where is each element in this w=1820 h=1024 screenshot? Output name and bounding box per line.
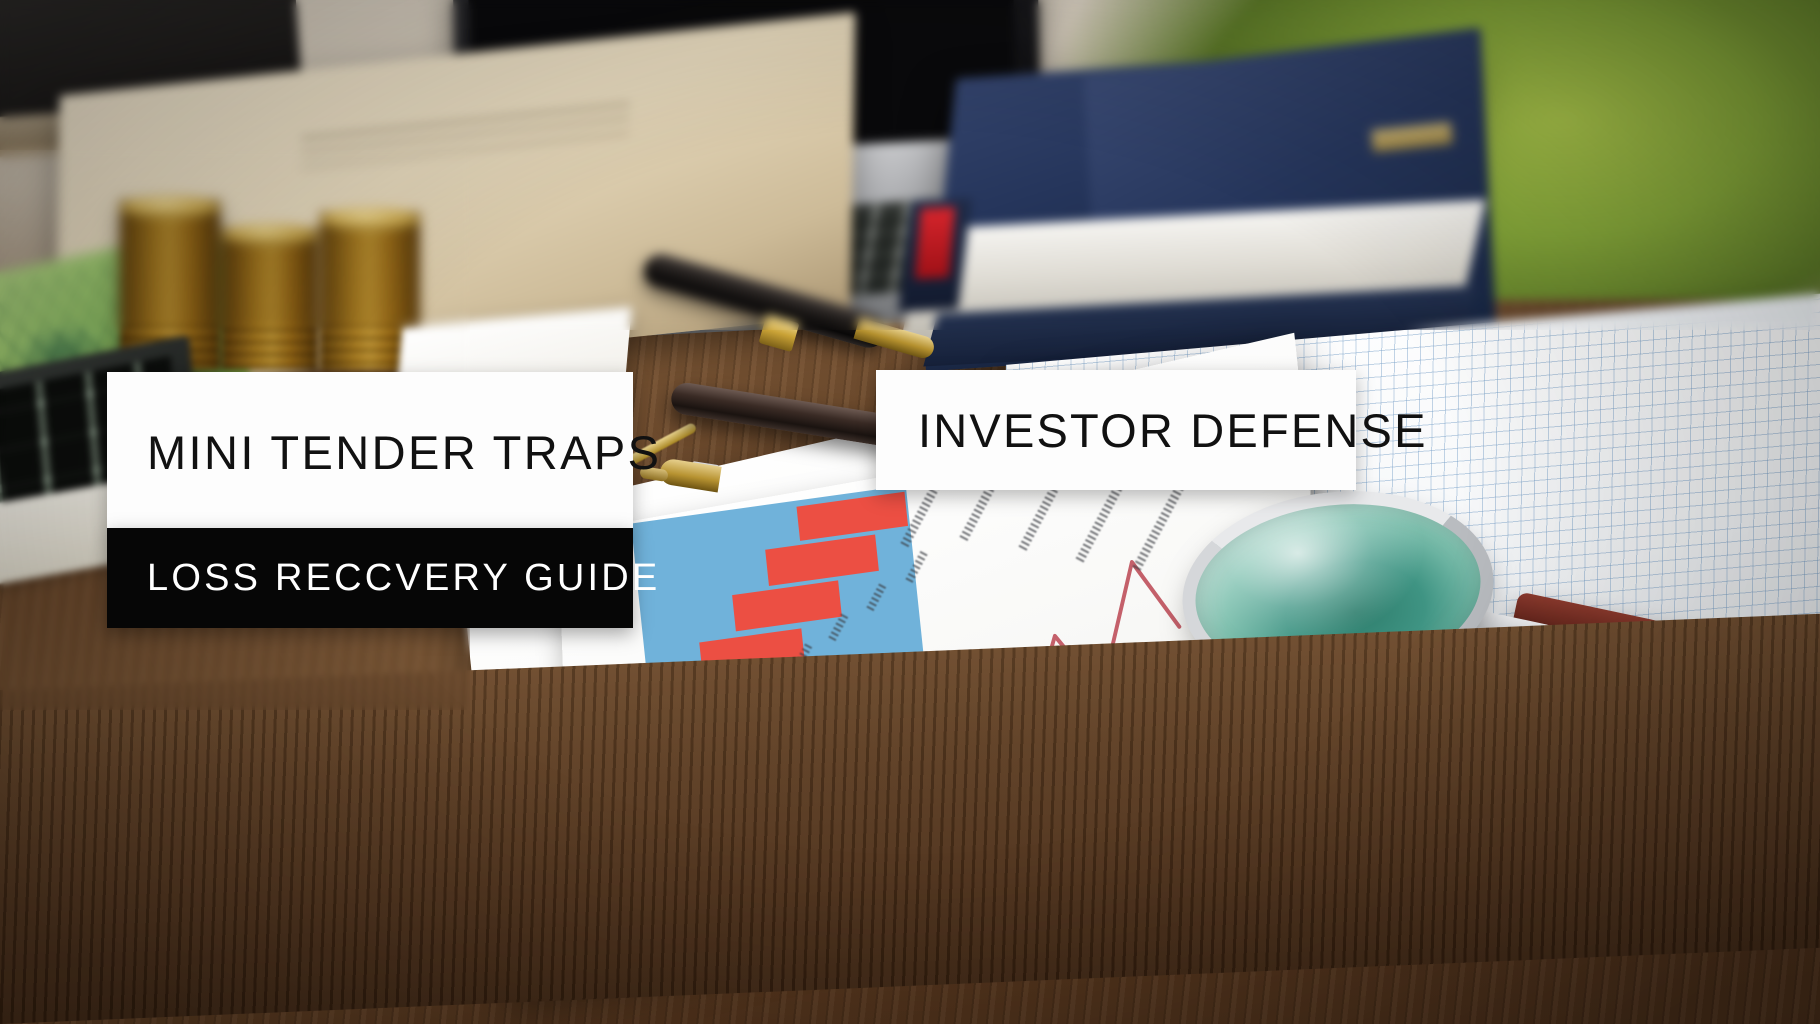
coin-stack-2-top	[222, 224, 318, 245]
subheadline-text: LOSS RECCVERY GUIDE	[107, 557, 660, 600]
law-book-ribbon	[915, 207, 955, 279]
headline-secondary-text: INVESTOR DEFENSE	[876, 403, 1428, 458]
coin-stack-2	[222, 228, 318, 370]
headline-banner-primary: MINI TENDER TRAPS	[107, 372, 633, 532]
headline-banner-secondary: INVESTOR DEFENSE	[876, 370, 1356, 490]
coin-stack-1-top	[120, 196, 220, 218]
coin-stack-3-top	[320, 208, 420, 230]
headline-primary-text: MINI TENDER TRAPS	[107, 425, 661, 480]
subheadline-banner: LOSS RECCVERY GUIDE	[107, 528, 633, 628]
photo-canvas: MINI TENDER TRAPS LOSS RECCVERY GUIDE IN…	[0, 0, 1820, 1024]
